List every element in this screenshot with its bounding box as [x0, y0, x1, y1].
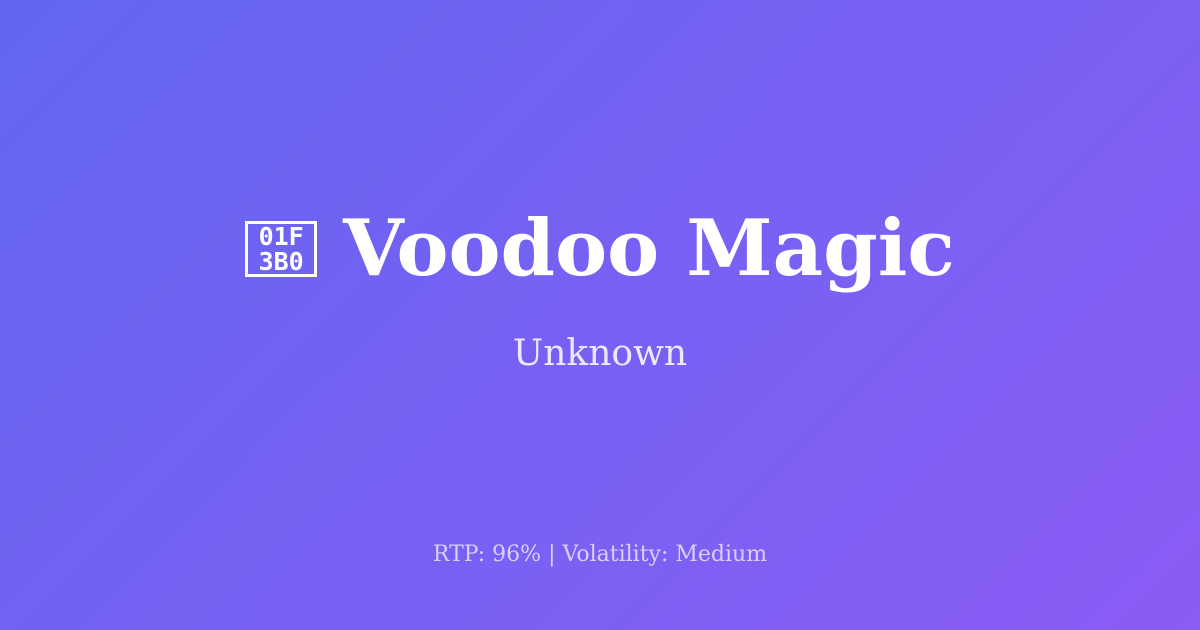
game-meta-line: RTP: 96% | Volatility: Medium	[0, 542, 1200, 568]
codepoint-top: 01F	[259, 224, 304, 249]
codepoint-bottom: 3B0	[259, 249, 304, 274]
page-title: Voodoo Magic	[343, 208, 955, 290]
game-preview-card: 01F 3B0 Voodoo Magic Unknown RTP: 96% | …	[0, 0, 1200, 630]
slot-machine-emoji-icon: 01F 3B0	[245, 221, 317, 277]
title-row: 01F 3B0 Voodoo Magic	[245, 208, 955, 290]
provider-label: Unknown	[513, 332, 687, 375]
